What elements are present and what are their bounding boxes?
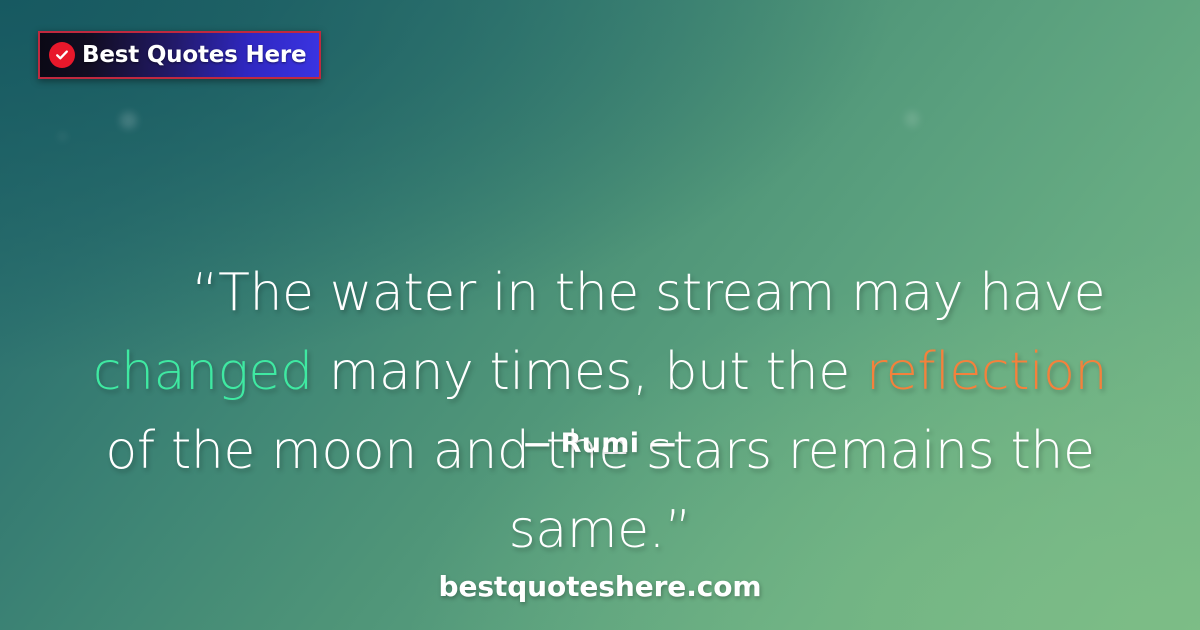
check-circle-icon: [49, 42, 75, 68]
quote-block: “The water in the stream may have change…: [0, 175, 1200, 630]
quote-text: “The water in the stream may have change…: [72, 175, 1128, 630]
quote-segment-plain-2: many times, but the: [313, 342, 866, 402]
quote-attribution: — Rumi —: [0, 428, 1200, 459]
brand-logo-badge[interactable]: Best Quotes Here: [38, 31, 321, 79]
footer-website-url: bestquoteshere.com: [0, 570, 1200, 603]
quote-segment-plain-1: “The water in the stream may have: [192, 263, 1122, 323]
quote-card-canvas: Best Quotes Here “The water in the strea…: [0, 0, 1200, 630]
bokeh-dot-icon: [58, 132, 67, 141]
brand-logo-label: Best Quotes Here: [82, 42, 306, 68]
bokeh-dot-icon: [905, 111, 919, 127]
quote-segment-highlight-reflection: reflection: [866, 342, 1107, 402]
quote-segment-highlight-changed: changed: [93, 342, 313, 402]
bokeh-dot-icon: [120, 112, 137, 129]
